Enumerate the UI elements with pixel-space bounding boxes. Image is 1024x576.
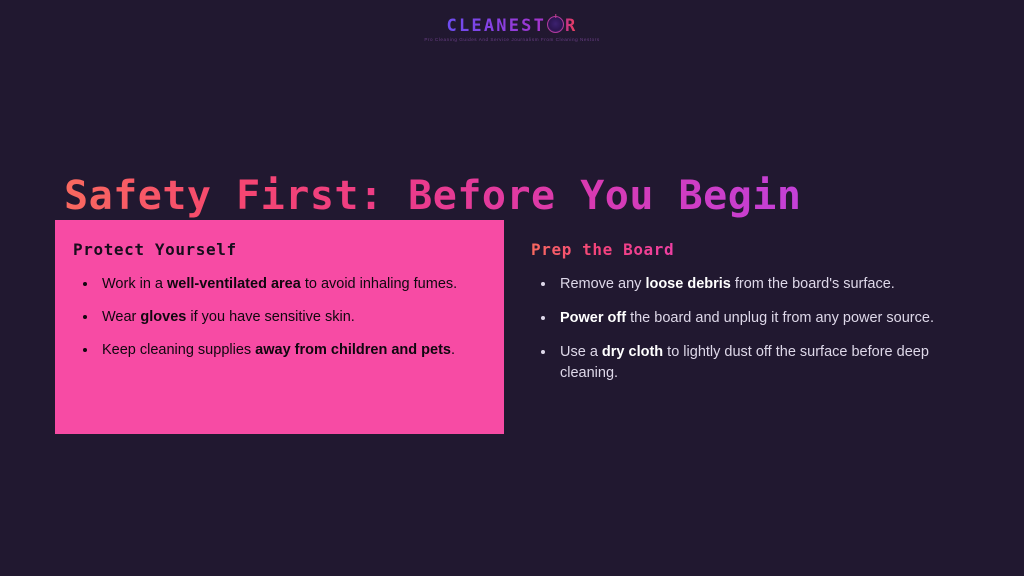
brand-wordmark: CLEANESTR — [447, 14, 578, 36]
list-item-emphasis: Power off — [560, 310, 626, 326]
prep-the-board-column: Prep the Board Remove any loose debris f… — [515, 220, 985, 397]
list-item: Remove any loose debris from the board's… — [531, 274, 985, 295]
brand-wordmark-part-1: CLEANEST — [447, 16, 546, 36]
page-title: Safety First: Before You Begin — [64, 169, 801, 223]
brand-wordmark-part-2: R — [565, 16, 577, 36]
list-item-text: Use a — [560, 344, 602, 360]
list-item-emphasis: loose debris — [645, 276, 730, 292]
list-item-text: Work in a — [102, 276, 167, 292]
list-item-emphasis: dry cloth — [602, 344, 663, 360]
protect-yourself-card: Protect Yourself Work in a well-ventilat… — [55, 220, 504, 434]
list-item-text: from the board's surface. — [731, 276, 895, 292]
list-item: Keep cleaning supplies away from childre… — [73, 340, 478, 361]
list-item: Wear gloves if you have sensitive skin. — [73, 307, 478, 328]
list-item-text: Keep cleaning supplies — [102, 342, 255, 358]
left-card-heading: Protect Yourself — [73, 240, 478, 260]
list-item-text: Wear — [102, 309, 140, 325]
list-item: Work in a well-ventilated area to avoid … — [73, 274, 478, 295]
brand-tagline: Pro Cleaning Guides And Service Journali… — [0, 37, 1024, 42]
circle-badge-o-icon — [547, 16, 564, 33]
list-item-text: to avoid inhaling fumes. — [301, 276, 457, 292]
list-item-emphasis: gloves — [140, 309, 186, 325]
brand-header: CLEANESTR Pro Cleaning Guides And Servic… — [0, 14, 1024, 42]
right-column-bullet-list: Remove any loose debris from the board's… — [531, 274, 985, 384]
right-column-heading: Prep the Board — [531, 240, 674, 260]
list-item-text: if you have sensitive skin. — [186, 309, 354, 325]
list-item-emphasis: away from children and pets — [255, 342, 451, 358]
list-item-text: the board and unplug it from any power s… — [626, 310, 934, 326]
list-item-emphasis: well-ventilated area — [167, 276, 301, 292]
left-card-bullet-list: Work in a well-ventilated area to avoid … — [73, 274, 478, 361]
list-item: Power off the board and unplug it from a… — [531, 308, 985, 329]
list-item: Use a dry cloth to lightly dust off the … — [531, 342, 985, 384]
list-item-text: . — [451, 342, 455, 358]
content-columns: Protect Yourself Work in a well-ventilat… — [0, 220, 1024, 450]
list-item-text: Remove any — [560, 276, 645, 292]
